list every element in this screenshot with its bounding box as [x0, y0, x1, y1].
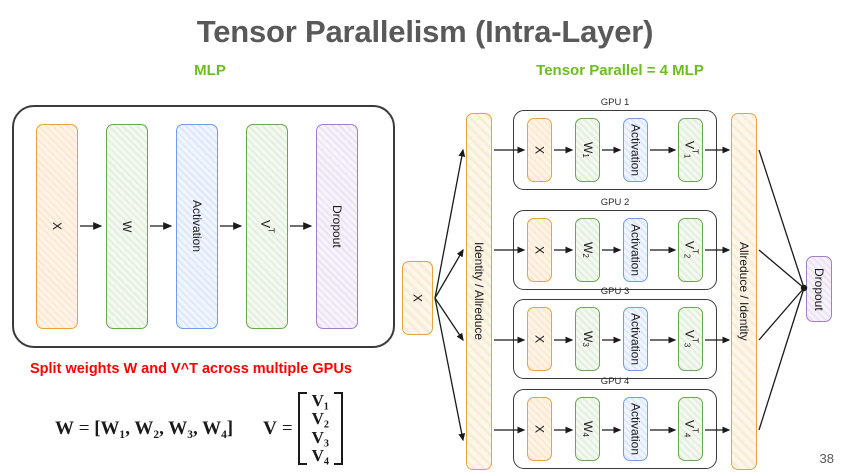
tp-input-x-label: X	[412, 294, 424, 302]
gpu-4-block-vt: VT4	[678, 397, 703, 461]
mlp-block-dropout-label: Dropout	[331, 205, 343, 248]
gpu-3-block-w-label: W3	[581, 331, 594, 347]
slide-canvas: Tensor Parallelism (Intra-Layer) MLP Ten…	[0, 0, 850, 476]
gpu-1-block-w-label: W1	[581, 142, 594, 158]
gpu-4-block-w-label: W4	[581, 421, 594, 437]
tp-identity-allreduce: Identity / Allreduce	[466, 113, 492, 470]
gpu-4-block-x-label: X	[534, 425, 546, 433]
gpu-3-caption: GPU 3	[510, 286, 720, 297]
gpu-1-block-vt-label: VT1	[682, 141, 698, 158]
matrix-row-3: V₃	[312, 429, 329, 447]
page-number: 38	[820, 451, 834, 466]
gpu-2-block-w-label: W2	[581, 242, 594, 258]
gpu-4-block-x: X	[527, 397, 552, 461]
mlp-block-dropout: Dropout	[316, 124, 358, 329]
mlp-block-vt-label: VT	[260, 220, 275, 233]
gpu-4-block-activation-label: Activation	[630, 403, 642, 455]
tp-allreduce-identity: Allreduce / Identity	[731, 113, 757, 470]
formula-v: V = V₁ V₂ V₃ V₄	[263, 392, 343, 465]
mlp-block-w: W	[106, 124, 148, 329]
gpu-2-block-activation: Activation	[623, 218, 648, 282]
gpu-2-block-activation-label: Activation	[630, 224, 642, 276]
weight-split-formula: W = [W₁, W₂, W₃, W₄] V = V₁ V₂ V₃ V₄	[55, 392, 343, 465]
gpu-3-block-w: W3	[575, 307, 600, 371]
gpu-3-block-x-label: X	[534, 335, 546, 343]
mlp-heading: MLP	[150, 62, 270, 79]
gpu-2-block-vt-label: VT2	[682, 241, 698, 258]
matrix-bracket-left	[298, 392, 307, 465]
mlp-block-activation: Activation	[176, 124, 218, 329]
matrix-column: V₁ V₂ V₃ V₄	[312, 392, 329, 465]
gpu-1-block-w: W1	[575, 118, 600, 182]
gpu-1-block-vt: VT1	[678, 118, 703, 182]
gpu-2-block-vt: VT2	[678, 218, 703, 282]
matrix-row-2: V₂	[312, 410, 329, 428]
gpu-4-block-vt-label: VT4	[682, 420, 698, 437]
tp-allreduce-identity-label: Allreduce / Identity	[738, 242, 750, 341]
mlp-block-x: X	[36, 124, 78, 329]
tp-output-dropout: Dropout	[806, 256, 832, 322]
gpu-1-caption: GPU 1	[510, 97, 720, 108]
gpu-3-block-vt-label: VT3	[682, 330, 698, 347]
matrix-row-4: V₄	[312, 447, 329, 465]
gpu-4-block-w: W4	[575, 397, 600, 461]
tensor-parallel-heading: Tensor Parallel = 4 MLP	[455, 62, 785, 79]
mlp-block-x-label: X	[51, 222, 63, 230]
mlp-block-activation-label: Activation	[191, 200, 203, 252]
matrix-row-1: V₁	[312, 392, 329, 410]
gpu-3-block-vt: VT3	[678, 307, 703, 371]
page-title: Tensor Parallelism (Intra-Layer)	[0, 14, 850, 50]
tp-input-x: X	[402, 261, 433, 335]
gpu-3-block-x: X	[527, 307, 552, 371]
mlp-block-vt: VT	[246, 124, 288, 329]
split-weights-note: Split weights W and V^T across multiple …	[30, 361, 352, 377]
mlp-block-w-label: W	[121, 221, 133, 232]
tp-identity-allreduce-label: Identity / Allreduce	[473, 242, 485, 340]
formula-w: W = [W₁, W₂, W₃, W₄]	[55, 418, 233, 440]
gpu-1-block-activation: Activation	[623, 118, 648, 182]
gpu-2-block-x-label: X	[534, 246, 546, 254]
gpu-3-block-activation-label: Activation	[630, 313, 642, 365]
tp-output-dropout-label: Dropout	[813, 268, 825, 311]
matrix-bracket-right	[334, 392, 343, 465]
gpu-1-block-x-label: X	[534, 146, 546, 154]
gpu-4-block-activation: Activation	[623, 397, 648, 461]
gpu-2-block-x: X	[527, 218, 552, 282]
gpu-1-block-x: X	[527, 118, 552, 182]
gpu-3-block-activation: Activation	[623, 307, 648, 371]
gpu-4-caption: GPU 4	[510, 376, 720, 387]
gpu-2-block-w: W2	[575, 218, 600, 282]
gpu-1-block-activation-label: Activation	[630, 124, 642, 176]
gpu-2-caption: GPU 2	[510, 197, 720, 208]
